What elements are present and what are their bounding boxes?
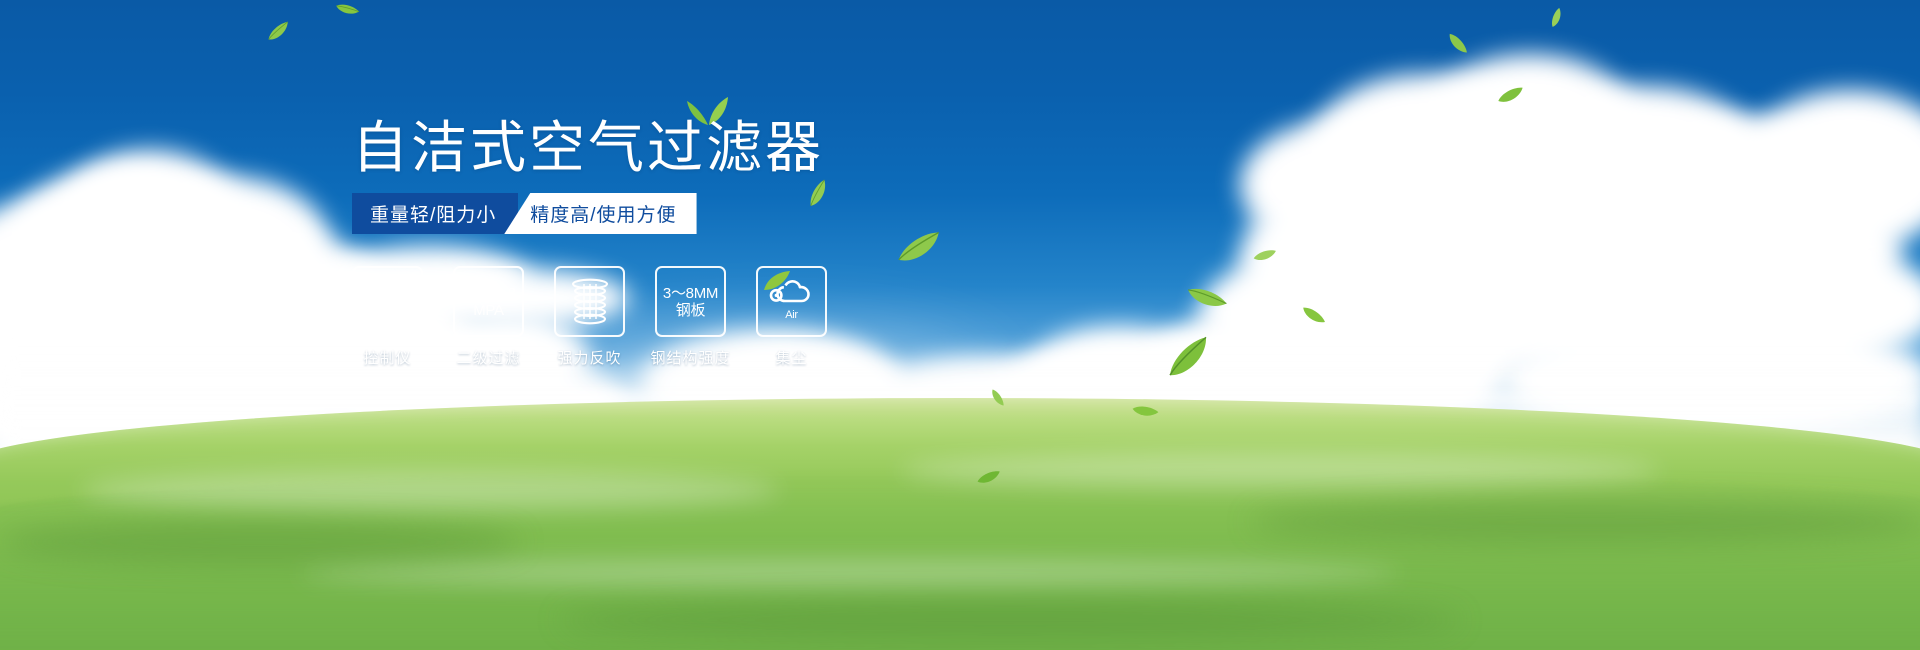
feature-icon-box: Air [756,266,827,337]
feature-item-controller[interactable]: NO OFF 控制仪 [352,266,423,368]
cloud-air-icon [768,279,816,306]
hero-banner: 自洁式空气过滤器 重量轻/阻力小 精度高/使用方便 [0,0,1920,650]
feature-item-steel-strength[interactable]: 3～8MM 钢板 钢结构强度 [655,266,726,368]
feature-label: 控制仪 [363,347,411,368]
tagline-group: 重量轻/阻力小 精度高/使用方便 [352,193,697,234]
feature-label: 集尘 [775,347,807,368]
feature-item-dust-collection[interactable]: Air 集尘 [756,266,827,368]
cloud-air-icon-label: Air [768,307,816,324]
feature-icon-box: NO OFF [352,266,423,337]
pressure-icon-range: 0.6～0.8 [461,285,516,302]
gauge-icon: NO OFF [360,276,416,328]
feature-label: 钢结构强度 [651,347,731,368]
feature-icon-row: NO OFF 控制仪 0.6～0.8 MPA 二级过滤 [352,266,827,368]
svg-text:NO: NO [367,297,378,306]
steel-plate-icon-thickness: 3～8MM [663,285,718,302]
steel-plate-icon-material: 钢板 [663,302,718,319]
svg-text:OFF: OFF [396,317,409,324]
pressure-icon-unit: MPA [461,302,516,319]
tag-precision-convenience[interactable]: 精度高/使用方便 [504,193,696,234]
feature-icon-box [554,266,625,337]
feature-icon-box: 0.6～0.8 MPA [453,266,524,337]
page-title: 自洁式空气过滤器 [352,118,824,178]
tag-weight-resistance[interactable]: 重量轻/阻力小 [352,193,518,234]
banner-content: 自洁式空气过滤器 重量轻/阻力小 精度高/使用方便 [0,0,1920,650]
feature-icon-box: 3～8MM 钢板 [655,266,726,337]
feature-item-secondary-filtration[interactable]: 0.6～0.8 MPA 二级过滤 [453,266,524,368]
feature-label: 二级过滤 [456,347,520,368]
feature-label: 强力反吹 [557,347,621,368]
filter-cartridge-icon [564,277,616,327]
feature-item-back-blow[interactable]: 强力反吹 [554,266,625,368]
